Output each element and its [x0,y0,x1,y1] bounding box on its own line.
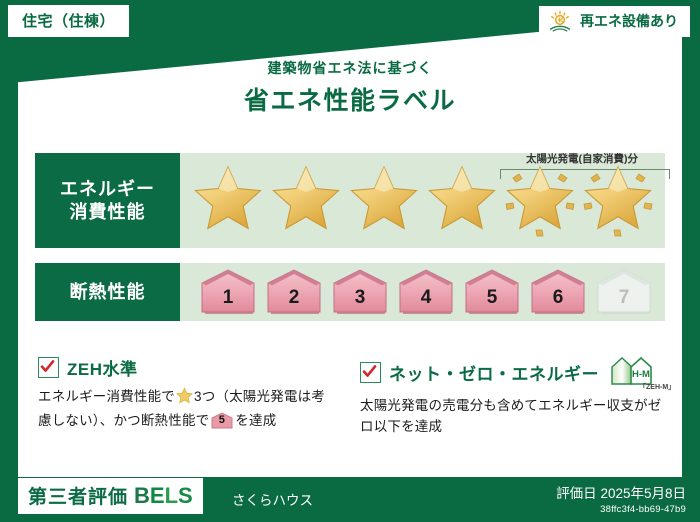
house-level-number: 3 [332,287,388,309]
company-name: さくらハウス [232,489,313,509]
third-party-eval-label: 第三者評価 [28,482,128,509]
check-icon [360,362,381,383]
star-icon [268,161,344,241]
criterion-net-zero-text: 太陽光発電の売電分も含めてエネルギー収支がゼロ以下を達成 [360,396,670,438]
star-icon [346,161,422,241]
house-level-number: 2 [266,287,322,309]
insulation-level-scale: 1 2 3 [180,263,665,321]
bels-logo: BELS [134,483,193,509]
star-rating [180,153,665,248]
criterion-zeh-text-part1: エネルギー消費性能で [38,389,175,404]
bels-letter-b: B [134,483,150,508]
sun-icon [547,10,573,32]
insulation-label-text: 断熱性能 [70,281,146,304]
house-level-number: 7 [596,287,652,309]
bels-letter-s: S [178,483,193,508]
building-type-label: 住宅（住棟） [22,13,115,30]
energy-performance-row: エネルギー 消費性能 太陽光発電(自家消費)分 [35,153,665,248]
house-icon: 1 [200,268,262,316]
bels-letter-e: E [150,483,165,508]
house-level-value: 5 [211,412,232,429]
footer-meta: 評価日 2025年5月8日 38ffc3f4-bb69-47b9 [556,482,686,515]
insulation-performance-label: 断熱性能 [35,263,180,321]
house-level-number: 6 [530,287,586,309]
house-level-number: 5 [464,287,520,309]
house-icon: 2 [266,268,328,316]
label-header: 建築物省エネ法に基づく 省エネ性能ラベル [0,58,700,117]
star-icon [190,161,266,241]
check-icon [38,357,59,378]
criterion-zeh-header: ZEH水準 [38,355,338,380]
criterion-zeh: ZEH水準 エネルギー消費性能で3つ（太陽光発電は考慮しない）、かつ断熱性能で5… [38,355,338,432]
house-icon: 5 [464,268,526,316]
zeh-m-caption: 「ZEH-M」 [639,382,675,392]
criterion-zeh-title: ZEH水準 [67,355,138,380]
bels-certification-badge: 第三者評価 BELS [18,478,203,514]
energy-performance-label: エネルギー 消費性能 [35,153,180,248]
house-icon: 6 [530,268,592,316]
house-icon: 4 [398,268,460,316]
energy-performance-body: 太陽光発電(自家消費)分 [180,153,665,248]
energy-label-line1: エネルギー [60,178,155,201]
star-icon [176,387,193,411]
insulation-performance-body: 1 2 3 [180,263,665,321]
evaluation-date: 評価日 2025年5月8日 [556,482,686,502]
house-icon: 3 [332,268,394,316]
renewable-equipment-badge: 再エネ設備あり [539,6,690,37]
header-subtitle: 建築物省エネ法に基づく [0,58,700,78]
energy-label-line2: 消費性能 [70,201,146,224]
star-icon [424,161,500,241]
label-frame: 住宅（住棟） 再エネ設備あり 建築物省エネ法に基づく 省エネ性能ラベル [0,0,700,522]
house-icon: 7 [596,268,658,316]
house-level-icon: 5 [211,412,233,429]
star-icon [580,161,656,241]
criterion-net-zero: ネット・ゼロ・エネルギー H-M 「ZEH-M」 太 [360,355,670,438]
header-title: 省エネ性能ラベル [0,81,700,117]
criterion-zeh-text: エネルギー消費性能で3つ（太陽光発電は考慮しない）、かつ断熱性能で5を達成 [38,387,338,432]
bels-letter-l: L [165,483,178,508]
renewable-badge-label: 再エネ設備あり [580,11,678,31]
building-type-tag: 住宅（住棟） [8,5,129,37]
insulation-performance-row: 断熱性能 1 [35,263,665,321]
zeh-m-house-icon: H-M 「ZEH-M」 [609,355,665,389]
svg-text:H-M: H-M [632,369,650,380]
criterion-net-zero-title: ネット・ゼロ・エネルギー [389,360,599,385]
house-level-number: 1 [200,287,256,309]
house-level-number: 4 [398,287,454,309]
criterion-zeh-text-part3: を達成 [235,413,276,428]
criterion-net-zero-header: ネット・ゼロ・エネルギー H-M 「ZEH-M」 [360,355,670,389]
record-id: 38ffc3f4-bb69-47b9 [556,504,686,515]
star-icon [502,161,578,241]
